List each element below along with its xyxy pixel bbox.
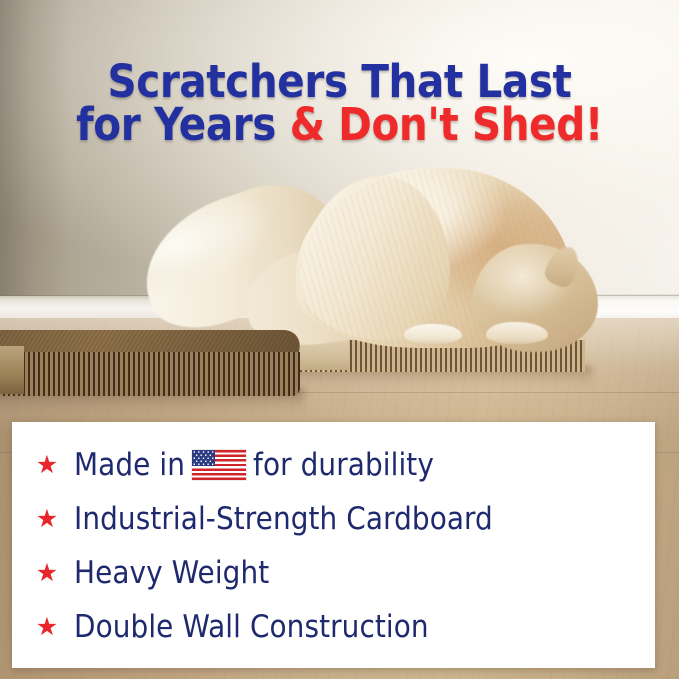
feature-text-after: for durability xyxy=(253,447,434,483)
dark-scratcher-corrugation xyxy=(0,352,300,396)
list-item: ★ Heavy Weight xyxy=(12,546,655,600)
flag-stars xyxy=(192,450,215,466)
star-icon: ★ xyxy=(34,560,60,586)
star-icon: ★ xyxy=(34,614,60,640)
headline-line-2-red: & Don't Shed! xyxy=(290,98,603,151)
us-flag-icon xyxy=(192,450,246,480)
headline-line-1: Scratchers That Last xyxy=(0,60,679,103)
star-icon: ★ xyxy=(34,452,60,478)
feature-text: Industrial-Strength Cardboard xyxy=(74,501,493,537)
feature-text: Heavy Weight xyxy=(74,555,269,591)
dark-scratcher-side xyxy=(0,346,24,394)
cat-hind-paw xyxy=(404,324,462,344)
flag-canton xyxy=(192,450,215,466)
product-infographic: Scratchers That Last for Years & Don't S… xyxy=(0,0,679,679)
cat-front-paw xyxy=(486,322,548,344)
feature-text: Double Wall Construction xyxy=(74,609,429,645)
headline-line-2: for Years & Don't Shed! xyxy=(0,103,679,146)
feature-list: ★ Made in for durability ★ Industrial-St… xyxy=(12,422,655,668)
feature-text: Made in for durability xyxy=(74,447,434,483)
feature-text-before: Made in xyxy=(74,447,185,483)
list-item: ★ Industrial-Strength Cardboard xyxy=(12,492,655,546)
feature-card: ★ Made in for durability ★ Industrial-St… xyxy=(12,422,655,668)
star-icon: ★ xyxy=(34,506,60,532)
list-item: ★ Double Wall Construction xyxy=(12,600,655,654)
headline: Scratchers That Last for Years & Don't S… xyxy=(0,60,679,146)
headline-line-2-navy: for Years xyxy=(76,98,290,151)
list-item: ★ Made in for durability xyxy=(12,438,655,492)
